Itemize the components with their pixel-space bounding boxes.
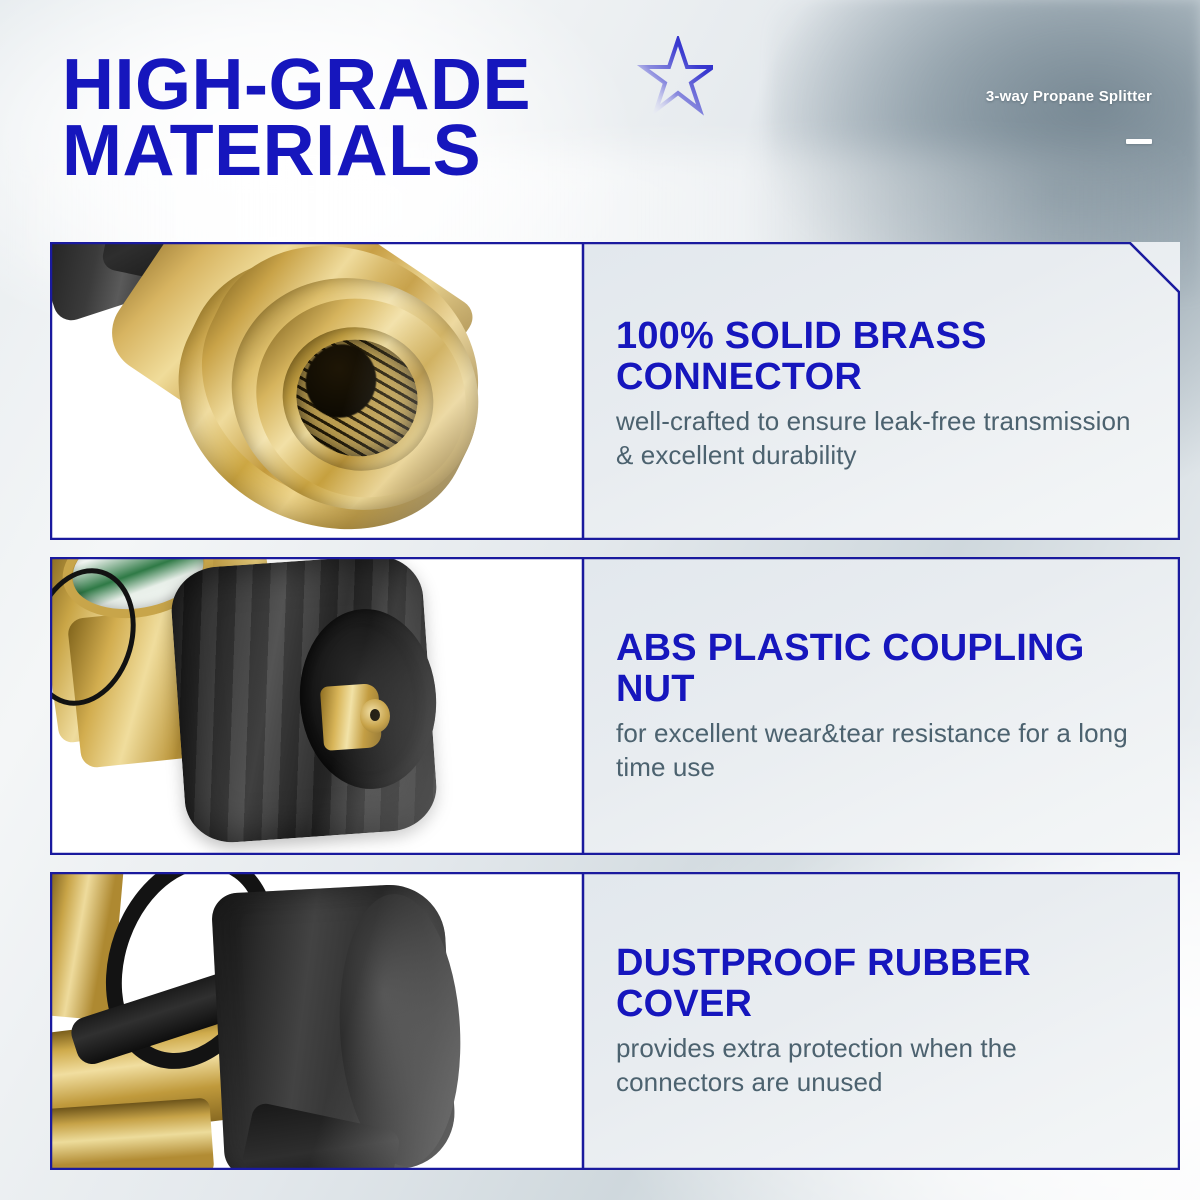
feature-text-panel: 100% SOLID BRASS CONNECTOR well-crafted … <box>583 242 1180 540</box>
feature-photo-coupling-nut <box>50 557 583 855</box>
product-label-dash <box>1126 139 1152 144</box>
page-title-line-1: HIGH-GRADE <box>62 52 531 118</box>
infographic-canvas: HIGH-GRADE MATERIALS 3-way Propane Split… <box>0 0 1200 1200</box>
feature-text-panel: DUSTPROOF RUBBER COVER provides extra pr… <box>583 872 1180 1170</box>
product-label-text: 3-way Propane Splitter <box>986 88 1152 105</box>
feature-body: well-crafted to ensure leak-free transmi… <box>616 405 1152 472</box>
feature-photo-brass-connector <box>50 242 583 540</box>
feature-heading: DUSTPROOF RUBBER COVER <box>616 943 1152 1024</box>
product-label: 3-way Propane Splitter <box>986 88 1152 144</box>
feature-heading: 100% SOLID BRASS CONNECTOR <box>616 316 1152 397</box>
feature-card-solid-brass-connector: 100% SOLID BRASS CONNECTOR well-crafted … <box>50 242 1180 540</box>
brass-outlet-tube-lower <box>50 1098 214 1170</box>
feature-card-dustproof-rubber-cover: DUSTPROOF RUBBER COVER provides extra pr… <box>50 872 1180 1170</box>
feature-card-list: 100% SOLID BRASS CONNECTOR well-crafted … <box>50 242 1182 1187</box>
feature-body: for excellent wear&tear resistance for a… <box>616 717 1152 784</box>
feature-card-abs-plastic-coupling-nut: ABS PLASTIC COUPLING NUT for excellent w… <box>50 557 1180 855</box>
page-title-line-2: MATERIALS <box>62 118 531 184</box>
photo-artwork <box>50 242 583 540</box>
photo-artwork <box>50 557 583 855</box>
page-title: HIGH-GRADE MATERIALS <box>62 52 531 184</box>
brass-pin-orifice <box>370 709 380 721</box>
feature-text-panel: ABS PLASTIC COUPLING NUT for excellent w… <box>583 557 1180 855</box>
feature-body: provides extra protection when the conne… <box>616 1032 1152 1099</box>
header: HIGH-GRADE MATERIALS 3-way Propane Split… <box>0 0 1200 242</box>
feature-photo-rubber-cover <box>50 872 583 1170</box>
feature-heading: ABS PLASTIC COUPLING NUT <box>616 628 1152 709</box>
photo-artwork <box>50 872 583 1170</box>
star-icon <box>635 36 713 122</box>
